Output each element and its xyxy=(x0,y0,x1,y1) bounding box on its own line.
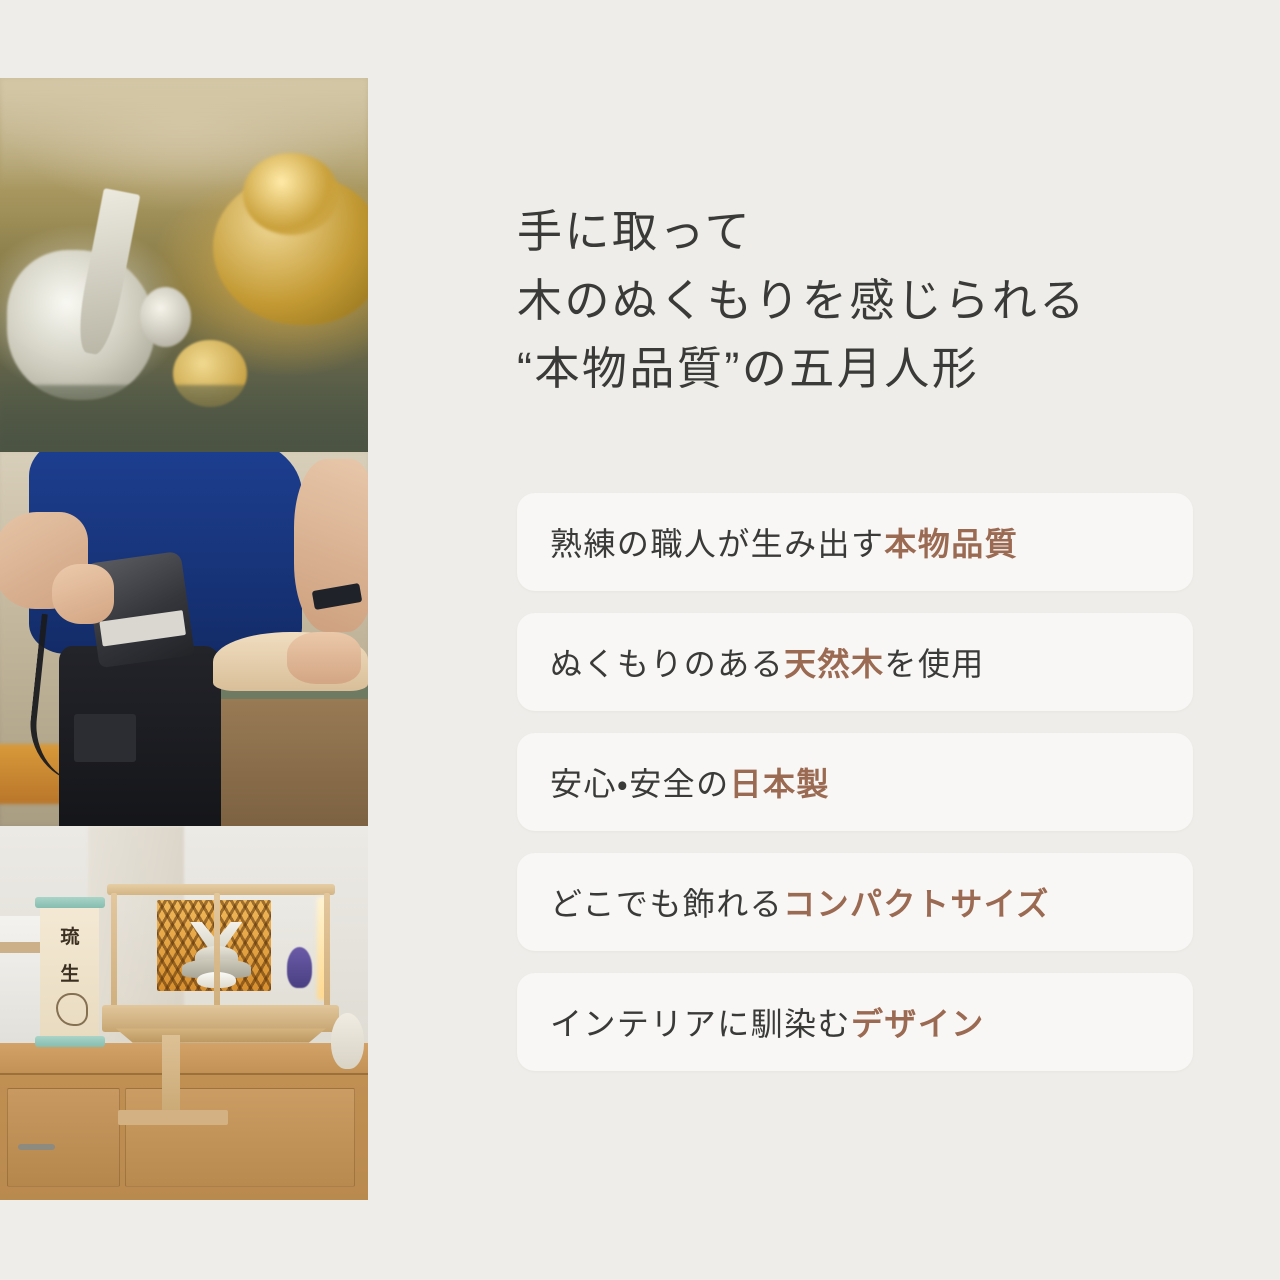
feature-card-text: 安心・安全の日本製 xyxy=(517,759,830,805)
craftsman-right-hand xyxy=(287,632,361,684)
feature-text-plain: 熟練の職人が生み出す xyxy=(550,526,884,562)
craftsman-sanding-photo xyxy=(0,452,368,826)
case-post-left xyxy=(111,893,117,1012)
wooden-display-case xyxy=(107,884,335,1041)
feature-text-accent: コンパクトサイズ xyxy=(783,886,1050,922)
snake-illustration xyxy=(56,993,88,1026)
workbench-surface xyxy=(0,385,368,452)
feature-text-plain: ぬくもりのある xyxy=(550,646,784,682)
feature-card-3[interactable]: 安心・安全の日本製 xyxy=(517,733,1193,831)
nameplate-stand xyxy=(162,1035,180,1117)
headline-line-2: 木のぬくもりを感じられる xyxy=(517,267,1207,335)
gold-ring-ornament xyxy=(243,153,339,235)
headline-line-3: “本物品質”の五月人形 xyxy=(517,335,1207,403)
feature-text-plain: 安心・安全の xyxy=(550,766,730,802)
case-top-rail xyxy=(107,884,335,895)
iris-flower-decor xyxy=(287,947,312,988)
photo-column: 琉 生 xyxy=(0,78,368,1200)
small-armor-fitting xyxy=(140,287,192,347)
case-base-board xyxy=(102,1005,339,1032)
feature-card-4[interactable]: どこでも飾れるコンパクトサイズ xyxy=(517,853,1193,951)
product-display-photo: 琉 生 xyxy=(0,826,368,1200)
drawer-handle xyxy=(18,1144,55,1150)
scroll-character-1: 琉 xyxy=(60,922,79,949)
feature-text-accent: 日本製 xyxy=(730,766,830,802)
armor-parts-workshop-photo xyxy=(0,78,368,452)
feature-card-5[interactable]: インテリアに馴染むデザイン xyxy=(517,973,1193,1071)
feature-card-text: インテリアに馴染むデザイン xyxy=(517,999,985,1045)
rabbit-figurine xyxy=(331,1013,364,1069)
feature-text-accent: 天然木 xyxy=(784,646,884,682)
case-foot xyxy=(116,1028,326,1042)
dresser-edge-line xyxy=(0,1073,368,1075)
feature-list: 熟練の職人が生み出す本物品質ぬくもりのある天然木を使用安心・安全の日本製どこでも… xyxy=(517,493,1193,1093)
feature-card-text: どこでも飾れるコンパクトサイズ xyxy=(517,879,1050,925)
scroll-character-2: 生 xyxy=(60,959,79,986)
feature-text-tail: を使用 xyxy=(884,646,984,682)
scroll-rod-top xyxy=(35,897,106,907)
scroll-paper: 琉 生 xyxy=(40,906,99,1038)
name-scroll-banner: 琉 生 xyxy=(40,897,99,1047)
landing-page-root: 琉 生 手に取って 木のぬくもりを感じられる “本物品質”の五月人形 熟練の職人… xyxy=(0,0,1280,1280)
page-title: 手に取って 木のぬくもりを感じられる “本物品質”の五月人形 xyxy=(517,198,1207,403)
work-table xyxy=(206,676,368,826)
feature-text-accent: 本物品質 xyxy=(884,526,1018,562)
dresser-drawer-left xyxy=(7,1088,119,1187)
nameplate-stand-foot xyxy=(118,1110,228,1125)
scroll-rod-bottom xyxy=(35,1036,106,1046)
feature-card-2[interactable]: ぬくもりのある天然木を使用 xyxy=(517,613,1193,711)
dresser-drawer-right xyxy=(125,1088,355,1187)
case-post-right xyxy=(324,893,330,1012)
headline-line-1: 手に取って xyxy=(517,198,1207,266)
feature-text-accent: デザイン xyxy=(851,1006,985,1042)
feature-text-plain: インテリアに馴染む xyxy=(550,1006,851,1042)
craftsman-left-hand xyxy=(52,564,115,624)
feature-card-text: ぬくもりのある天然木を使用 xyxy=(517,639,985,685)
case-post-center xyxy=(214,893,220,1012)
content-column: 手に取って 木のぬくもりを感じられる “本物品質”の五月人形 熟練の職人が生み出… xyxy=(517,0,1207,1280)
feature-card-text: 熟練の職人が生み出す本物品質 xyxy=(517,519,1018,565)
feature-text-plain: どこでも飾れる xyxy=(550,886,783,922)
feature-card-1[interactable]: 熟練の職人が生み出す本物品質 xyxy=(517,493,1193,591)
